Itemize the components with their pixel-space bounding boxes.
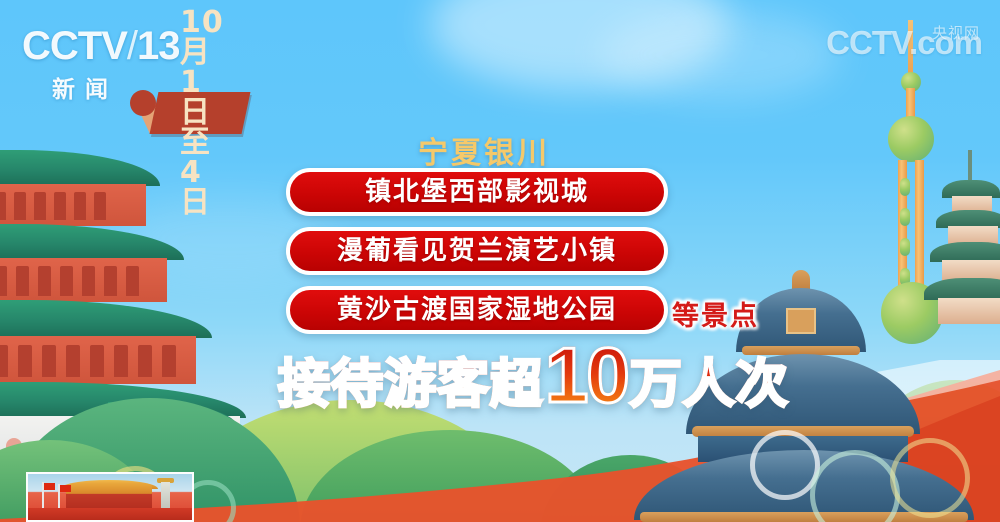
tiananmen-photo-thumbnail (26, 472, 194, 522)
headline-number: 10 (545, 336, 628, 414)
attraction-label: 黄沙古渡国家湿地公园 (337, 297, 617, 323)
city-title: 宁夏银川 (418, 128, 550, 172)
headline-prefix: 接待游客超 (278, 359, 543, 411)
plaza-ground-shape (28, 508, 192, 520)
cctv-logo-text: CCTV (22, 24, 127, 68)
cctv-logo-channel: 13 (137, 24, 180, 68)
attraction-label: 镇北堡西部影视城 (365, 179, 589, 205)
headline: 接待游客超 10 万人次 (278, 336, 789, 414)
attraction-pill: 漫葡看见贺兰演艺小镇 (286, 227, 668, 275)
headline-unit: 万人次 (630, 359, 789, 411)
flag-shape (60, 485, 71, 492)
broadcast-graphic: CCTV/13 新闻 央视网 CCTV.com 10月1日至4日 宁夏银川 镇北… (0, 0, 1000, 522)
cloud-haze (600, 10, 840, 100)
attraction-label: 漫葡看见贺兰演艺小镇 (337, 238, 617, 264)
attraction-pill: 镇北堡西部影视城 (286, 168, 668, 216)
date-banner-plate: 10月1日至4日 (150, 92, 251, 134)
cctv-logo-separator: / (127, 24, 137, 68)
attractions-suffix: 等景点 (672, 294, 759, 333)
location-pin-icon (130, 90, 156, 116)
watermark-cn-text: 央视网 (932, 22, 980, 43)
gate-body-shape (66, 484, 152, 508)
wave-swirl-decoration (740, 420, 1000, 522)
cctv-com-watermark: 央视网 CCTV.com (826, 26, 982, 59)
attraction-pill: 黄沙古渡国家湿地公园 (286, 286, 668, 334)
date-banner-text: 10月1日至4日 (180, 8, 224, 218)
flag-shape (44, 483, 55, 490)
